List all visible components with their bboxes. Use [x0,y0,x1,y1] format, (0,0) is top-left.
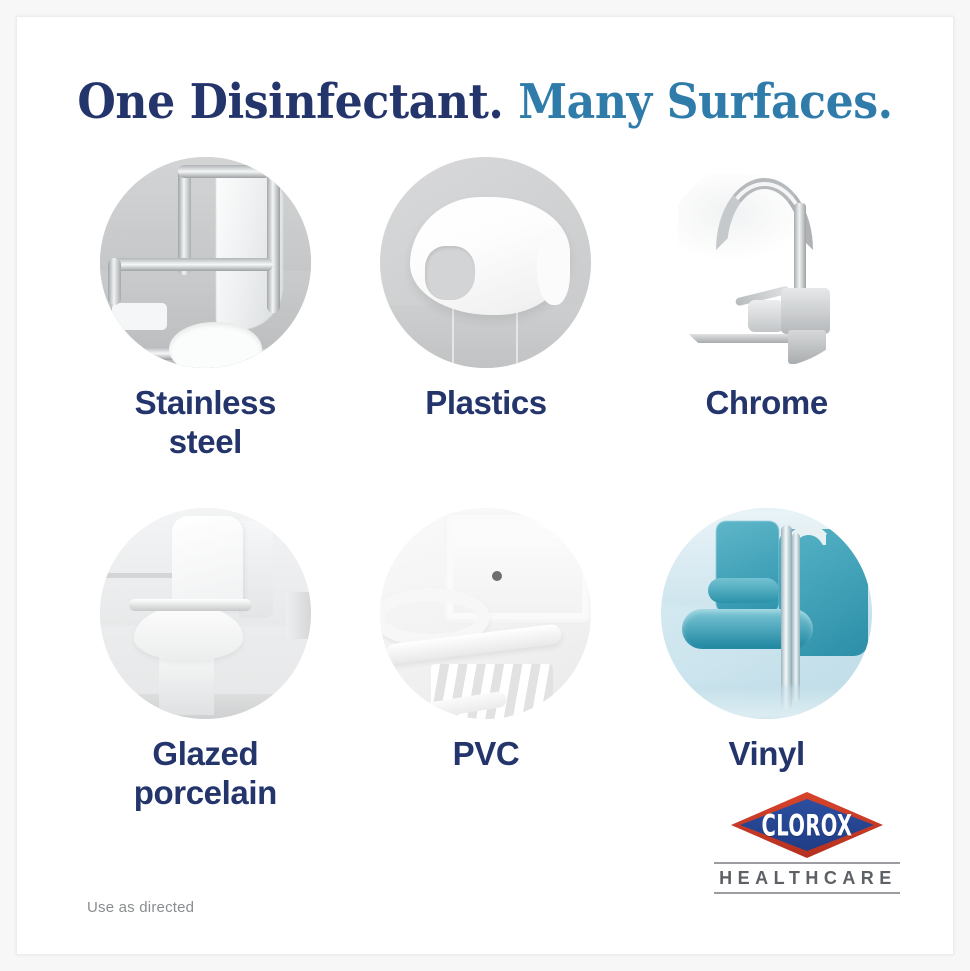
clorox-brand-text: CLOROX [748,787,867,864]
surface-item-glazed-porcelain: Glazed porcelain [65,508,346,813]
surface-label-plastics: Plastics [425,384,547,423]
surface-label-vinyl: Vinyl [729,735,805,774]
chrome-thumbnail [661,157,872,368]
pvc-bed-rail-icon [380,508,591,719]
surface-item-vinyl: Vinyl [626,508,907,813]
clorox-diamond-icon: CLOROX [731,792,883,858]
headline-part-one: One Disinfectant. [77,74,503,130]
chrome-faucet-icon [661,157,872,368]
stainless-steel-grab-bar-icon [100,157,311,368]
poster-card: One Disinfectant. Many Surfaces. Stainle… [16,16,954,955]
healthcare-lockup: HEALTHCARE [714,862,900,894]
surface-label-chrome: Chrome [705,384,827,423]
page-title: One Disinfectant. Many Surfaces. [54,77,915,127]
poster-root: One Disinfectant. Many Surfaces. Stainle… [0,0,970,971]
surface-label-stainless-steel: Stainless steel [135,384,276,462]
healthcare-division-text: HEALTHCARE [714,864,900,892]
clorox-healthcare-logo: CLOROX HEALTHCARE [707,792,907,894]
footnote-use-as-directed: Use as directed [87,899,194,916]
headline-part-two: Many Surfaces. [518,74,892,130]
plastics-thumbnail [380,157,591,368]
surface-item-pvc: PVC [346,508,627,813]
glazed-porcelain-toilet-icon [100,508,311,719]
surface-item-plastics: Plastics [346,157,627,462]
surface-item-chrome: Chrome [626,157,907,462]
surface-grid: Stainless steel Plastics [65,157,907,813]
glazed-porcelain-thumbnail [100,508,311,719]
pvc-thumbnail [380,508,591,719]
plastic-shower-chair-icon [380,157,591,368]
surface-label-pvc: PVC [453,735,520,774]
teal-vinyl-furniture-icon [661,508,872,719]
healthcare-rule-bottom [714,892,900,894]
surface-item-stainless-steel: Stainless steel [65,157,346,462]
vinyl-thumbnail [661,508,872,719]
stainless-steel-thumbnail [100,157,311,368]
surface-label-glazed-porcelain: Glazed porcelain [134,735,277,813]
